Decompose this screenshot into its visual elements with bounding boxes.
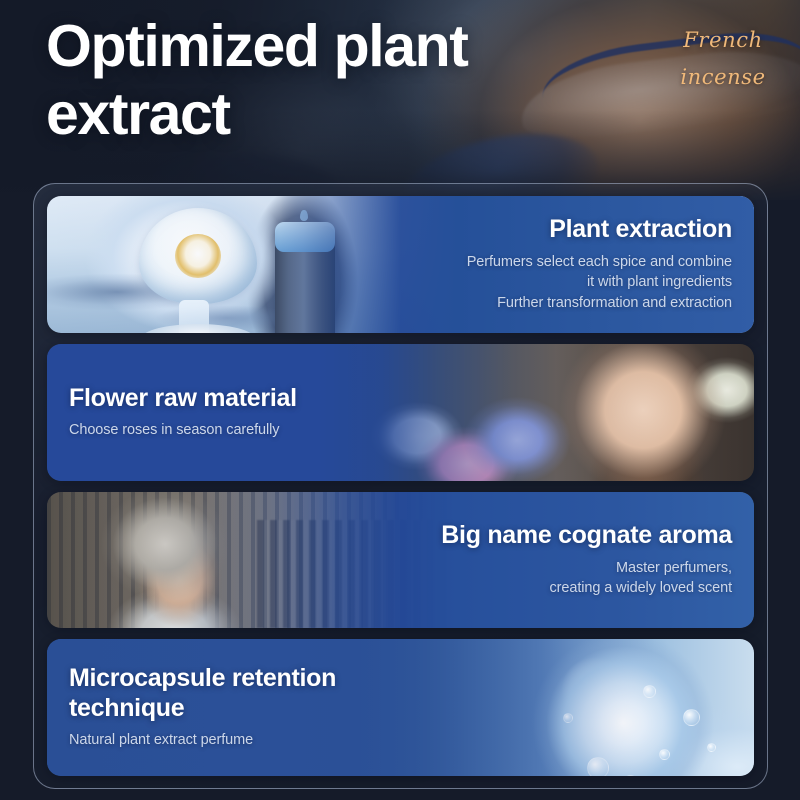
page-title-line-2: extract [46,80,606,148]
card-description: Perfumers select each spice and combine … [467,252,732,314]
card-description: Master perfumers, creating a widely love… [550,558,732,599]
card-text-block: Big name cognate aroma Master perfumers,… [47,492,754,629]
brand-script-label: French incense [668,22,778,96]
feature-card-big-name-cognate-aroma[interactable]: Big name cognate aroma Master perfumers,… [47,492,754,629]
card-description: Natural plant extract perfume [69,730,253,751]
card-description-line: Master perfumers, [550,558,732,579]
feature-card-microcapsule-retention-technique[interactable]: Microcapsule retention technique Natural… [47,639,754,776]
card-text-block: Plant extraction Perfumers select each s… [47,196,754,333]
card-description-line: Perfumers select each spice and combine [467,252,732,273]
feature-cards-list: Plant extraction Perfumers select each s… [47,196,754,776]
feature-card-flower-raw-material[interactable]: Flower raw material Choose roses in seas… [47,344,754,481]
card-title: Microcapsule retention technique [69,664,429,723]
page-title: Optimized plant extract [46,12,606,149]
feature-cards-panel: Plant extraction Perfumers select each s… [33,183,768,789]
product-feature-poster: Optimized plant extract French incense [0,0,800,800]
card-title: Big name cognate aroma [441,521,732,551]
card-description-line: creating a widely loved scent [550,578,732,599]
hero-banner: Optimized plant extract French incense [0,0,800,200]
card-description-line: it with plant ingredients [467,272,732,293]
card-text-block: Microcapsule retention technique Natural… [47,639,754,776]
card-description: Choose roses in season carefully [69,420,279,441]
brand-script-line-1: French [668,22,778,59]
card-text-block: Flower raw material Choose roses in seas… [47,344,754,481]
feature-card-plant-extraction[interactable]: Plant extraction Perfumers select each s… [47,196,754,333]
card-description-line: Natural plant extract perfume [69,730,253,751]
card-description-line: Further transformation and extraction [467,293,732,314]
card-description-line: Choose roses in season carefully [69,420,279,441]
card-title: Plant extraction [549,215,732,245]
card-title: Flower raw material [69,384,297,414]
brand-script-line-2: incense [668,59,778,96]
page-title-line-1: Optimized plant [46,13,468,79]
